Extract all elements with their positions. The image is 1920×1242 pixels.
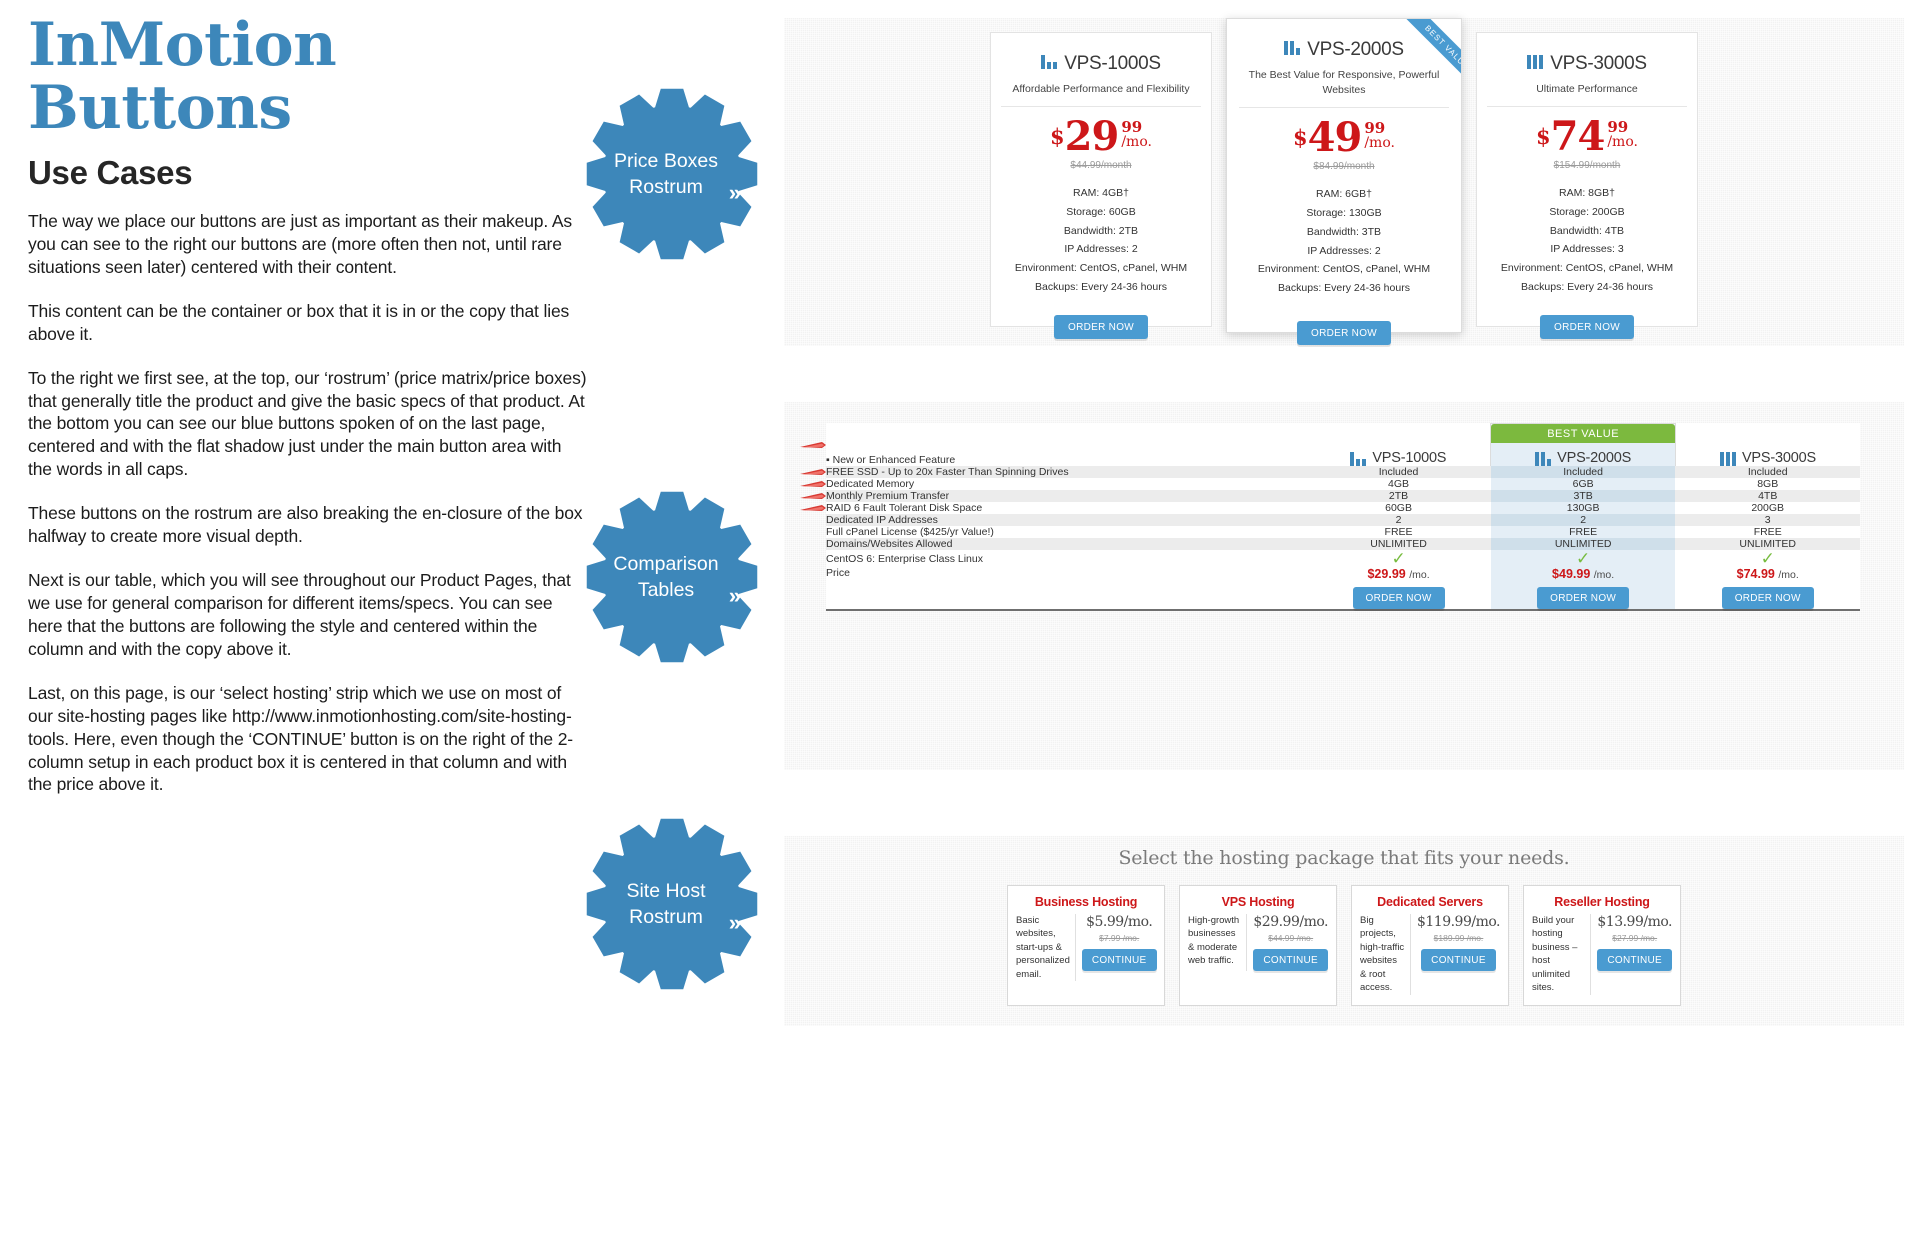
body-paragraph: Next is our table, which you will see th… [28,569,588,661]
comparison-table-row: Domains/Websites AllowedUNLIMITEDUNLIMIT… [826,538,1860,550]
site-host-card-price: $5.99/mo. [1082,914,1157,930]
comparison-value-cell: 2TB [1306,490,1491,502]
price-fraction: 99/mo. [1121,120,1152,150]
comparison-value-cell: Included [1491,466,1676,478]
body-copy: The way we place our buttons are just as… [28,210,588,796]
order-now-button[interactable]: ORDER NOW [1540,315,1634,339]
price-box-spec-item: Backups: Every 24-36 hours [1239,279,1449,298]
price-box-spec-list: RAM: 8GB†Storage: 200GBBandwidth: 4TBIP … [1487,184,1687,296]
order-now-button[interactable]: ORDER NOW [1537,587,1629,609]
price-dollars: 29 [1065,118,1119,156]
price-box-price: $4999/mo. [1239,119,1449,157]
left-text-column: InMotion Buttons Use Cases The way we pl… [28,14,588,817]
comparison-table-legend-cell: ▪ New or Enhanced Feature [826,424,1306,467]
comparison-value-cell: 8GB [1675,478,1860,490]
best-value-ribbon-label: BEST VALUE [1391,19,1461,103]
price-currency: $ [1293,125,1308,150]
comparison-value-cell: Included [1675,466,1860,478]
comparison-table-column-header: BEST VALUEVPS-2000S [1491,424,1676,467]
price-box-plan-name: VPS-1000S [1064,53,1161,75]
comparison-price-label-cell: Price [826,567,1306,609]
comparison-table-row: RAID 6 Fault Tolerant Disk Space60GB130G… [826,502,1860,514]
site-host-card-columns: Big projects, high-traffic websites & ro… [1360,914,1500,995]
comparison-value-cell: ✓ [1675,550,1860,567]
continue-button[interactable]: CONTINUE [1082,949,1157,971]
comparison-table: ▪ New or Enhanced FeatureVPS-1000SBEST V… [826,423,1860,609]
price-box: VPS-3000SUltimate Performance$7499/mo.$1… [1476,32,1698,327]
comparison-feature-cell: Dedicated Memory [826,478,1306,490]
price-box-spec-item: Storage: 130GB [1239,204,1449,223]
gear-badge-label: Comparison Tables [586,491,758,663]
red-arrow-icon [800,468,826,476]
order-now-button[interactable]: ORDER NOW [1054,315,1148,339]
comparison-price-cell: $29.99 /mo.ORDER NOW [1306,567,1491,609]
price-box-spec-item: Bandwidth: 2TB [1001,222,1201,241]
site-host-card-description: Build your hosting business – host unlim… [1532,914,1591,995]
comparison-feature-cell: Dedicated IP Addresses [826,514,1306,526]
comparison-price-value: $74.99 /mo. [1675,567,1860,581]
comparison-price-value: $29.99 /mo. [1306,567,1491,581]
gear-label-line2: Rostrum [629,904,703,930]
comparison-feature-label: CentOS 6: Enterprise Class Linux [826,553,983,565]
chevron-right-icon: » [729,912,741,934]
site-host-card-description: Basic websites, start-ups & personalized… [1016,914,1076,981]
gear-label-line1: Comparison [613,551,718,577]
site-host-card-columns: Build your hosting business – host unlim… [1532,914,1672,995]
site-host-card-price: $13.99/mo. [1597,914,1672,930]
comparison-price-cell: $74.99 /mo.ORDER NOW [1675,567,1860,609]
comparison-table-wrapper: ▪ New or Enhanced FeatureVPS-1000SBEST V… [826,423,1860,611]
gear-label-line2: Rostrum [629,174,703,200]
comparison-column-plan: VPS-2000S [1491,450,1675,466]
site-host-card: Business HostingBasic websites, start-up… [1007,885,1165,1006]
body-paragraph: These buttons on the rostrum are also br… [28,502,588,548]
site-host-card-title: Reseller Hosting [1532,895,1672,909]
site-host-card-row: Business HostingBasic websites, start-up… [784,885,1904,1006]
price-box-spec-item: IP Addresses: 3 [1487,240,1687,259]
price-box-spec-item: Storage: 60GB [1001,203,1201,222]
comparison-feature-cell: CentOS 6: Enterprise Class Linux [826,550,1306,567]
best-value-badge: BEST VALUE [1491,424,1675,443]
site-host-heading: Select the hosting package that fits you… [784,836,1904,869]
price-cents: 99 [1364,121,1395,136]
price-box-spec-list: RAM: 6GB†Storage: 130GBBandwidth: 3TBIP … [1239,185,1449,297]
price-box-tagline: Ultimate Performance [1487,82,1687,107]
site-host-card-price: $29.99/mo. [1253,914,1328,930]
comparison-value-cell: 2 [1306,514,1491,526]
site-host-card-old-price: $189.99 /mo. [1417,933,1500,943]
site-host-card-price: $119.99/mo. [1417,914,1500,930]
continue-button[interactable]: CONTINUE [1597,949,1672,971]
site-host-card-old-price: $7.99 /mo. [1082,933,1157,943]
comparison-table-row: Dedicated IP Addresses223 [826,514,1860,526]
price-box-spec-item: Storage: 200GB [1487,203,1687,222]
comparison-price-period: /mo. [1778,569,1798,581]
site-host-card-description: Big projects, high-traffic websites & ro… [1360,914,1411,995]
comparison-column-plan: VPS-1000S [1306,450,1490,466]
price-box-spec-list: RAM: 4GB†Storage: 60GBBandwidth: 2TBIP A… [1001,184,1201,296]
price-box-title: VPS-3000S [1487,53,1687,75]
order-now-button[interactable]: ORDER NOW [1353,587,1445,609]
gear-label-line1: Site Host [626,878,705,904]
price-dollars: 49 [1308,119,1362,157]
comparison-column-plan: VPS-3000S [1676,450,1860,466]
comparison-value-cell: ✓ [1306,550,1491,567]
gear-badge-comparison-tables[interactable]: Comparison Tables » [586,491,758,663]
comparison-table-column-header: VPS-3000S [1675,424,1860,467]
gear-badge-price-boxes-rostrum[interactable]: Price Boxes Rostrum » [586,88,758,260]
order-now-button[interactable]: ORDER NOW [1297,321,1391,345]
comparison-column-plan-name: VPS-2000S [1557,450,1631,466]
price-box-spec-item: Environment: CentOS, cPanel, WHM [1001,259,1201,278]
comparison-value-cell: Included [1306,466,1491,478]
comparison-table-column-header: VPS-1000S [1306,424,1491,467]
price-box-old-price: $84.99/month [1239,161,1449,172]
comparison-feature-label: Dedicated Memory [826,478,914,490]
price-box-plan-name: VPS-3000S [1550,53,1647,75]
legend-label: ▪ New or Enhanced Feature [826,454,955,466]
price-box-spec-item: RAM: 4GB† [1001,184,1201,203]
site-host-card-title: Business Hosting [1016,895,1156,909]
site-host-card-price-column: $119.99/mo.$189.99 /mo.CONTINUE [1417,914,1500,995]
site-host-card-price-column: $29.99/mo.$44.99 /mo.CONTINUE [1253,914,1328,971]
comparison-price-row: Price$29.99 /mo.ORDER NOW$49.99 /mo.ORDE… [826,567,1860,609]
price-box-tagline: Affordable Performance and Flexibility [1001,82,1201,107]
chevron-right-icon: » [729,182,741,204]
body-paragraph: The way we place our buttons are just as… [28,210,588,279]
price-box-spec-item: Environment: CentOS, cPanel, WHM [1239,260,1449,279]
comparison-value-cell: 2 [1491,514,1676,526]
bar-chart-icon [1527,54,1543,69]
site-host-card: VPS HostingHigh-growth businesses & mode… [1179,885,1337,1006]
comparison-feature-cell: Domains/Websites Allowed [826,538,1306,550]
price-period: /mo. [1121,135,1152,150]
site-host-card: Dedicated ServersBig projects, high-traf… [1351,885,1509,1006]
comparison-feature-label: FREE SSD - Up to 20x Faster Than Spinnin… [826,466,1069,478]
order-now-button[interactable]: ORDER NOW [1722,587,1814,609]
comparison-value-cell: 200GB [1675,502,1860,514]
comparison-price-value: $49.99 /mo. [1491,567,1676,581]
price-box-spec-item: Backups: Every 24-36 hours [1487,278,1687,297]
comparison-feature-label: Monthly Premium Transfer [826,490,949,502]
comparison-table-panel: ▪ New or Enhanced FeatureVPS-1000SBEST V… [784,402,1904,770]
comparison-table-row: Dedicated Memory4GB6GB8GB [826,478,1860,490]
site-host-card-description: High-growth businesses & moderate web tr… [1188,914,1247,971]
comparison-value-cell: 4TB [1675,490,1860,502]
comparison-price-period: /mo. [1594,569,1614,581]
bar-chart-icon [1041,54,1057,69]
site-host-rostrum-panel: Select the hosting package that fits you… [784,836,1904,1026]
red-arrow-icon [800,504,826,512]
price-box-price: $2999/mo. [1001,118,1201,156]
price-box: BEST VALUEVPS-2000SThe Best Value for Re… [1226,18,1462,333]
site-host-card-columns: High-growth businesses & moderate web tr… [1188,914,1328,971]
price-box-spec-item: RAM: 8GB† [1487,184,1687,203]
comparison-value-cell: 4GB [1306,478,1491,490]
continue-button[interactable]: CONTINUE [1421,949,1496,971]
comparison-value-cell: FREE [1306,526,1491,538]
price-boxes-rostrum-panel: VPS-1000SAffordable Performance and Flex… [784,18,1904,346]
price-box-spec-item: IP Addresses: 2 [1001,240,1201,259]
red-arrow-icon [800,480,826,488]
price-box-price: $7499/mo. [1487,118,1687,156]
comparison-feature-label: Dedicated IP Addresses [826,514,938,526]
bar-chart-icon [1284,40,1300,55]
price-currency: $ [1536,124,1551,149]
chevron-right-icon: » [729,585,741,607]
comparison-value-cell: 130GB [1491,502,1676,514]
site-host-card-columns: Basic websites, start-ups & personalized… [1016,914,1156,981]
site-host-card-old-price: $44.99 /mo. [1253,933,1328,943]
price-box-spec-item: RAM: 6GB† [1239,185,1449,204]
price-box-title: VPS-1000S [1001,53,1201,75]
price-box-spec-item: Bandwidth: 3TB [1239,223,1449,242]
comparison-column-plan-name: VPS-1000S [1372,450,1446,466]
comparison-table-row: Monthly Premium Transfer2TB3TB4TB [826,490,1860,502]
comparison-value-cell: 6GB [1491,478,1676,490]
comparison-feature-cell: Monthly Premium Transfer [826,490,1306,502]
comparison-table-row: Full cPanel License ($425/yr Value!)FREE… [826,526,1860,538]
price-box-spec-item: Backups: Every 24-36 hours [1001,278,1201,297]
comparison-column-plan-name: VPS-3000S [1742,450,1816,466]
price-box-old-price: $154.99/month [1487,160,1687,171]
gear-label-line2: Tables [638,577,694,603]
site-host-card-title: VPS Hosting [1188,895,1328,909]
gear-badge-site-host-rostrum[interactable]: Site Host Rostrum » [586,818,758,990]
price-box-row: VPS-1000SAffordable Performance and Flex… [784,18,1904,346]
price-box-old-price: $44.99/month [1001,160,1201,171]
comparison-feature-label: Domains/Websites Allowed [826,538,952,550]
price-box-spec-item: IP Addresses: 2 [1239,242,1449,261]
bar-chart-icon [1720,451,1736,466]
price-cents: 99 [1607,120,1638,135]
site-host-card-old-price: $27.99 /mo. [1597,933,1672,943]
comparison-table-header-row: ▪ New or Enhanced FeatureVPS-1000SBEST V… [826,424,1860,467]
price-cents: 99 [1121,120,1152,135]
price-period: /mo. [1364,136,1395,151]
red-arrow-icon [800,492,826,500]
comparison-value-cell: FREE [1491,526,1676,538]
price-period: /mo. [1607,135,1638,150]
comparison-value-cell: 60GB [1306,502,1491,514]
comparison-price-period: /mo. [1409,569,1429,581]
site-host-card-price-column: $5.99/mo.$7.99 /mo.CONTINUE [1082,914,1157,981]
comparison-price-cell: $49.99 /mo.ORDER NOW [1491,567,1676,609]
site-host-card-price-column: $13.99/mo.$27.99 /mo.CONTINUE [1597,914,1672,995]
price-fraction: 99/mo. [1364,121,1395,151]
price-dollars: 74 [1551,118,1605,156]
price-currency: $ [1050,124,1065,149]
comparison-value-cell: ✓ [1491,550,1676,567]
poster-page: InMotion Buttons Use Cases The way we pl… [0,0,1920,1242]
best-value-ribbon: BEST VALUE [1369,19,1461,111]
site-host-card: Reseller HostingBuild your hosting busin… [1523,885,1681,1006]
price-box-spec-item: Environment: CentOS, cPanel, WHM [1487,259,1687,278]
price-box: VPS-1000SAffordable Performance and Flex… [990,32,1212,327]
price-fraction: 99/mo. [1607,120,1638,150]
price-box-spec-item: Bandwidth: 4TB [1487,222,1687,241]
gear-label-line1: Price Boxes [614,148,718,174]
comparison-feature-label: Full cPanel License ($425/yr Value!) [826,526,994,538]
page-subtitle: Use Cases [28,154,588,192]
bar-chart-icon [1350,451,1366,466]
comparison-table-row: FREE SSD - Up to 20x Faster Than Spinnin… [826,466,1860,478]
gear-badge-label: Site Host Rostrum [586,818,758,990]
red-arrow-icon [800,441,826,449]
page-title: InMotion Buttons [28,14,588,140]
comparison-table-row: CentOS 6: Enterprise Class Linux✓✓✓ [826,550,1860,567]
comparison-value-cell: FREE [1675,526,1860,538]
body-paragraph: To the right we first see, at the top, o… [28,367,588,482]
comparison-feature-cell: RAID 6 Fault Tolerant Disk Space [826,502,1306,514]
body-paragraph: This content can be the container or box… [28,300,588,346]
body-paragraph: Last, on this page, is our ‘select hosti… [28,682,588,797]
bar-chart-icon [1535,451,1551,466]
continue-button[interactable]: CONTINUE [1253,949,1328,971]
gear-badge-label: Price Boxes Rostrum [586,88,758,260]
comparison-feature-cell: FREE SSD - Up to 20x Faster Than Spinnin… [826,466,1306,478]
comparison-value-cell: 3TB [1491,490,1676,502]
site-host-card-title: Dedicated Servers [1360,895,1500,909]
comparison-feature-label: RAID 6 Fault Tolerant Disk Space [826,502,982,514]
comparison-value-cell: 3 [1675,514,1860,526]
comparison-feature-cell: Full cPanel License ($425/yr Value!) [826,526,1306,538]
